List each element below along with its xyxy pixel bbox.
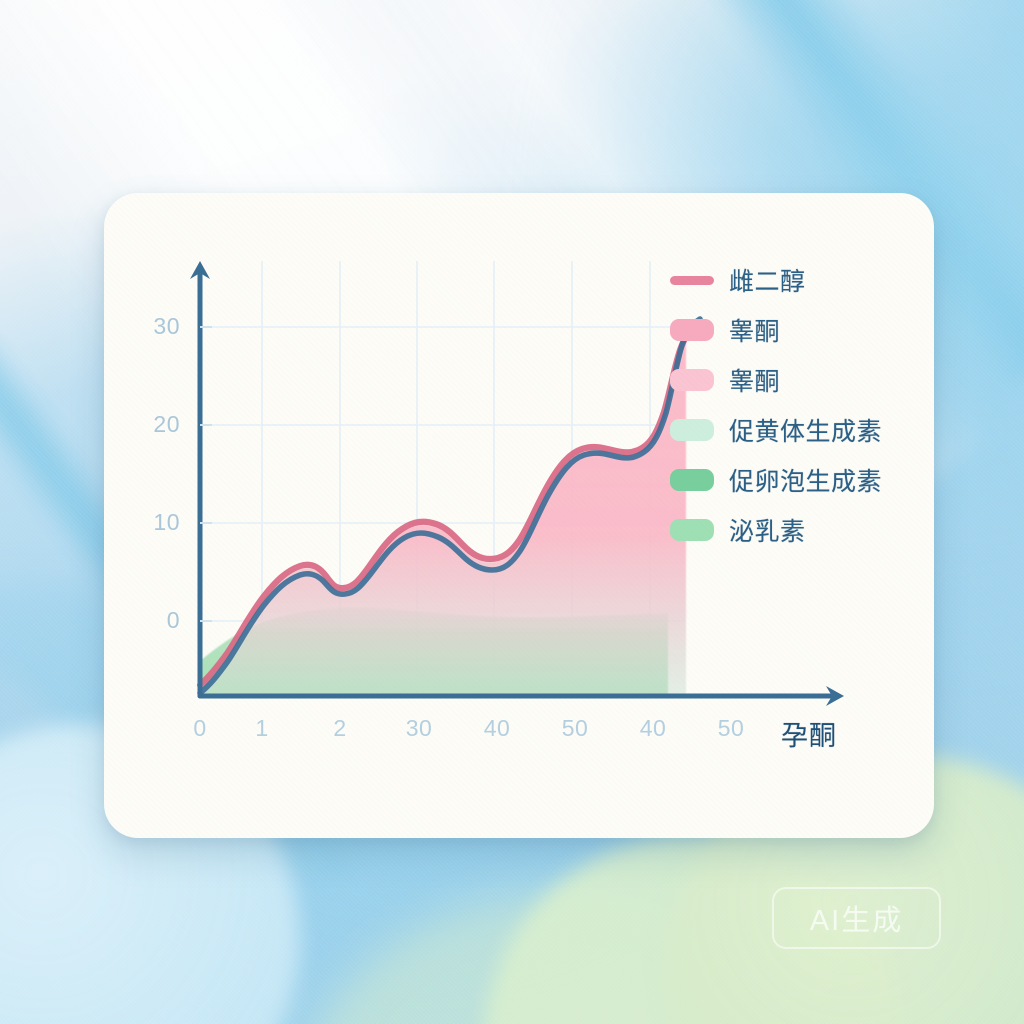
area-fill-pink (200, 335, 686, 696)
chart-card: 30 20 10 0 0 1 2 30 40 50 40 50 孕酮 雌二醇 睾… (104, 193, 934, 838)
legend-item-prolactin[interactable]: 泌乳素 (670, 505, 920, 555)
chart-legend: 雌二醇 睾酮 睾酮 促黄体生成素 促卵泡生成素 泌乳素 (670, 255, 920, 555)
legend-area-swatch-lh (670, 419, 714, 441)
x-tick-label-7: 50 (709, 715, 753, 742)
legend-label-fsh: 促卵泡生成素 (729, 462, 882, 498)
y-tick-label-1: 20 (120, 411, 180, 438)
legend-area-swatch-prolactin (670, 519, 714, 541)
x-tick-label-3: 30 (397, 715, 441, 742)
y-tick-label-0: 30 (120, 313, 180, 340)
x-tick-label-1: 1 (242, 715, 282, 742)
x-tick-label-0: 0 (180, 715, 220, 742)
legend-label-testosterone-2: 睾酮 (729, 362, 780, 398)
x-tick-label-2: 2 (320, 715, 360, 742)
legend-label-estradiol: 雌二醇 (729, 262, 806, 298)
legend-item-estradiol[interactable]: 雌二醇 (670, 255, 920, 305)
y-tick-label-3: 0 (120, 607, 180, 634)
x-tick-label-6: 40 (631, 715, 675, 742)
legend-label-testosterone-1: 睾酮 (729, 312, 780, 348)
legend-area-swatch-testosterone-2 (670, 369, 714, 391)
x-tick-label-5: 50 (553, 715, 597, 742)
legend-line-swatch-estradiol (670, 276, 714, 285)
x-tick-label-4: 40 (475, 715, 519, 742)
legend-area-swatch-testosterone-1 (670, 319, 714, 341)
legend-label-lh: 促黄体生成素 (729, 412, 882, 448)
legend-label-prolactin: 泌乳素 (729, 512, 806, 548)
legend-item-fsh[interactable]: 促卵泡生成素 (670, 455, 920, 505)
legend-item-testosterone-2[interactable]: 睾酮 (670, 355, 920, 405)
legend-area-swatch-fsh (670, 469, 714, 491)
legend-item-lh[interactable]: 促黄体生成素 (670, 405, 920, 455)
x-axis-title: 孕酮 (781, 714, 837, 753)
canvas-root: 30 20 10 0 0 1 2 30 40 50 40 50 孕酮 雌二醇 睾… (0, 0, 1024, 1024)
y-tick-label-2: 10 (120, 509, 180, 536)
legend-item-testosterone-1[interactable]: 睾酮 (670, 305, 920, 355)
